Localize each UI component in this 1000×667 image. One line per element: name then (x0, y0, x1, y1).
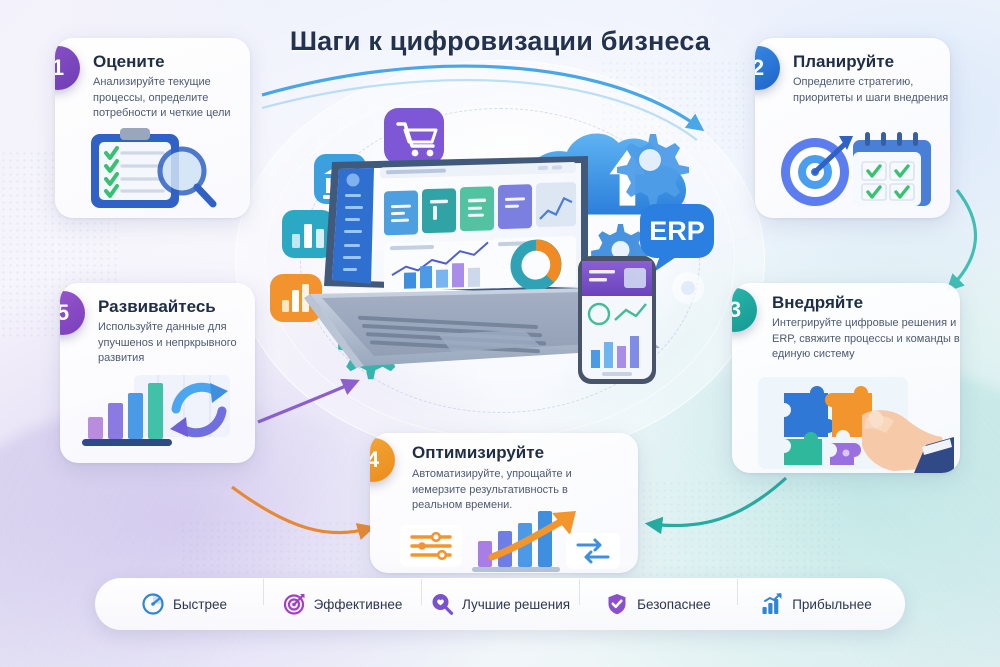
step-card-5[interactable]: 5 Развивайтесь Используйте данные для уп… (60, 283, 255, 463)
step-number-badge: 3 (732, 288, 757, 332)
clipboard-magnifier-icon (77, 126, 237, 212)
benefit-item-profitable[interactable]: Прибыльнее (737, 592, 895, 616)
bars-refresh-icon (74, 375, 246, 457)
benefit-item-safer[interactable]: Безопаснее (579, 592, 737, 616)
step-title: Оптимизируйте (412, 443, 544, 463)
step-card-3[interactable]: 3 Внедряйте Интегрируйте цифровые решени… (732, 283, 960, 473)
step-number-badge: 4 (370, 438, 395, 482)
puzzle-hand-icon (754, 375, 954, 473)
step-number-badge: 1 (55, 46, 80, 90)
step-number-badge: 5 (60, 291, 85, 335)
benefit-label: Лучшие решения (462, 597, 570, 612)
bar-chart-icon (282, 210, 334, 258)
growth-arrow-bars-icon (400, 517, 632, 573)
step-card-2[interactable]: 2 Планируйте Определите стратегию, приор… (755, 38, 950, 218)
step-number-badge: 2 (755, 46, 780, 90)
step-title: Планируйте (793, 52, 894, 72)
magnifier-heart-icon (430, 592, 454, 616)
benefit-label: Безопаснее (637, 597, 711, 612)
benefits-bar: Быстрее Эффективнее (95, 578, 905, 630)
infographic-canvas: Шаги к цифровизации бизнеса (0, 0, 1000, 667)
benefit-item-effective[interactable]: Эффективнее (263, 592, 421, 616)
step-title: Развивайтесь (98, 297, 216, 317)
step-description: Интегрируйте цифровые решения и ERP, свя… (772, 316, 960, 363)
arrow-2-to-3 (950, 190, 975, 288)
benefit-label: Прибыльнее (792, 597, 872, 612)
step-description: Определите стратегию, приоритеты и шаги … (793, 75, 950, 106)
step-card-4[interactable]: 4 Оптимизируйте Автоматизируйте, упрощай… (370, 433, 638, 573)
target-icon (282, 592, 306, 616)
benefit-item-better-solutions[interactable]: Лучшие решения (421, 592, 579, 616)
step-description: Используйте данные для упучшеноs и непрк… (98, 320, 255, 367)
shopping-cart-icon (384, 108, 444, 168)
step-card-1[interactable]: 1 Оцените Анализируйте текущие процессы,… (55, 38, 250, 218)
benefit-item-faster[interactable]: Быстрее (105, 592, 263, 616)
step-description: Анализируйте текущие процессы, определит… (93, 75, 250, 122)
bar-chart-up-icon (760, 592, 784, 616)
step-description: Автоматизируйте, упрощайте и иемерзите р… (412, 467, 617, 514)
erp-label: ERP (649, 216, 705, 246)
central-illustration: ERP (288, 98, 712, 422)
benefit-label: Эффективнее (314, 597, 403, 612)
step-title: Оцените (93, 52, 165, 72)
shield-check-icon (605, 592, 629, 616)
benefit-label: Быстрее (173, 597, 227, 612)
step-title: Внедряйте (772, 293, 863, 313)
smartphone-dashboard (578, 256, 656, 384)
target-calendar-icon (773, 126, 945, 212)
speedometer-icon (141, 592, 165, 616)
